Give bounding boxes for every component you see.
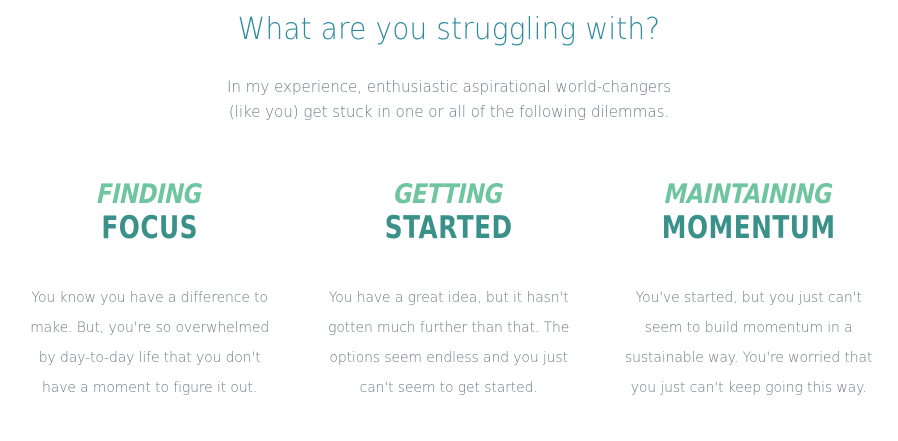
struggling-section: What are you struggling with? In my expe… — [0, 0, 898, 441]
dilemma-body-text: You know you have a difference to make. … — [23, 245, 276, 403]
dilemma-body-text: You have a great idea, but it hasn't got… — [323, 245, 576, 403]
dilemma-column-momentum: MAINTAINING MOMENTUM You've started, but… — [599, 180, 898, 403]
heading-script-word: MAINTAINING — [637, 180, 860, 210]
heading-maintaining-momentum: MAINTAINING MOMENTUM — [617, 180, 880, 245]
heading-script-word: GETTING — [338, 180, 561, 210]
subtitle-line-1: In my experience, enthusiastic aspiratio… — [226, 74, 673, 99]
dilemma-body-text: You've started, but you just can't seem … — [622, 245, 875, 403]
heading-bold-word: FOCUS — [44, 211, 255, 245]
subtitle-line-2: (like you) get stuck in one or all of th… — [226, 99, 673, 124]
dilemma-column-started: GETTING STARTED You have a great idea, b… — [299, 180, 598, 403]
section-header: What are you struggling with? In my expe… — [0, 0, 898, 124]
dilemma-columns: FINDING FOCUS You know you have a differ… — [0, 180, 898, 403]
section-subtitle: In my experience, enthusiastic aspiratio… — [226, 74, 673, 124]
dilemma-column-focus: FINDING FOCUS You know you have a differ… — [0, 180, 299, 403]
heading-finding-focus: FINDING FOCUS — [18, 180, 281, 245]
heading-getting-started: GETTING STARTED — [317, 180, 580, 245]
page-title: What are you struggling with? — [31, 12, 866, 48]
heading-bold-word: MOMENTUM — [643, 211, 854, 245]
heading-bold-word: STARTED — [344, 211, 555, 245]
heading-script-word: FINDING — [38, 180, 261, 210]
